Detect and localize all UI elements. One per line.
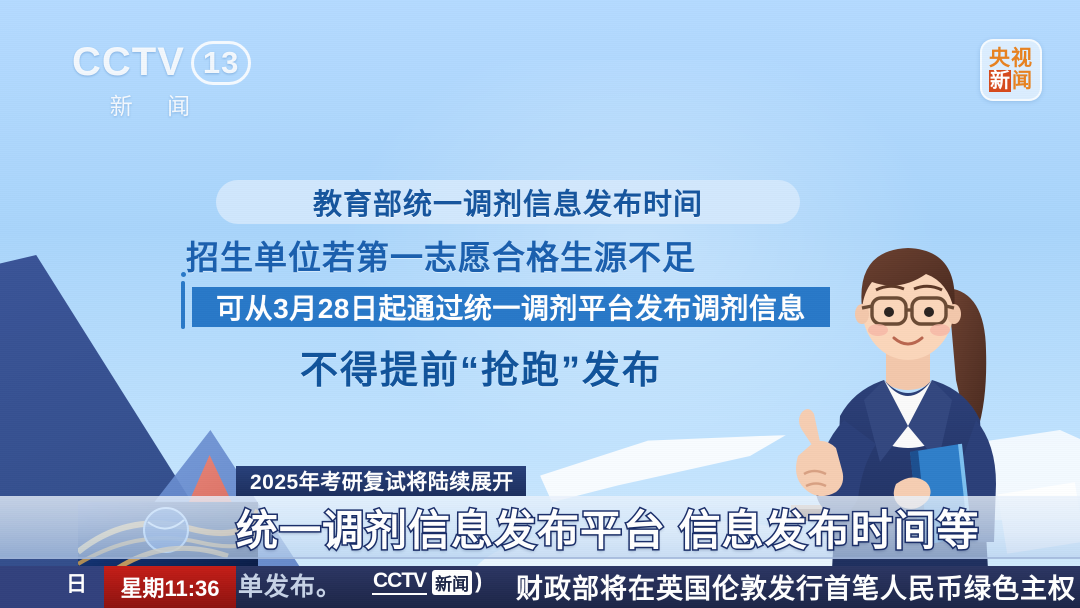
slide-line-2: 招生单位若第一志愿合格生源不足 [186, 231, 696, 279]
ticker-cctv-news-logo: CCTV 新闻 ) [372, 569, 482, 595]
lower-third-headline: 统一调剂信息发布平台 信息发布时间等 [236, 498, 980, 556]
cctv13-wordmark: CCTV 13 [72, 40, 242, 85]
bug-line-1: 央视 [989, 48, 1033, 70]
news-ticker: 日 星期11:36 单发布。 CCTV 新闻 ) 财政部将在英国伦敦发行首笔人民… [0, 566, 1080, 608]
slide-line-4: 不得提前“抢跑”发布 [300, 339, 662, 394]
ticker-headline: 财政部将在英国伦敦发行首笔人民币绿色主权 [516, 567, 1080, 606]
ticker-day-glyph: 日 [66, 568, 87, 598]
ticker-left-panel [0, 566, 104, 608]
bug-highlight-char: 新 [989, 70, 1011, 92]
ticker-cctv-text: CCTV [372, 569, 427, 595]
broadcast-screenshot: CCTV 13 新 闻 央视 新 闻 教育部统一调剂信息发布时间 招生单位若第一… [0, 0, 1080, 608]
accent-dot [181, 272, 186, 277]
accent-bar [181, 281, 185, 329]
cctv13-subtitle: 新 闻 [72, 87, 242, 121]
channel-number: 13 [191, 41, 251, 85]
cctv13-watermark: CCTV 13 新 闻 [72, 40, 242, 120]
ticker-news-badge: 新闻 [432, 570, 472, 595]
cctv-news-bug: 央视 新 闻 [980, 39, 1042, 101]
slide-highlight-text: 可从3月28日起通过统一调剂平台发布调剂信息 [192, 287, 830, 327]
lower-third: 2025年考研复试将陆续展开 统一调剂信息发布平台 信息发布时间等 [0, 466, 1080, 566]
slide-title: 教育部统一调剂信息发布时间 [216, 180, 800, 224]
ticker-logo-paren: ) [475, 570, 482, 594]
lower-third-kicker: 2025年考研复试将陆续展开 [236, 466, 526, 496]
bug-plain-char: 闻 [1011, 70, 1033, 92]
ticker-previous-fragment: 单发布。 [238, 567, 342, 603]
ticker-clock: 星期11:36 [104, 566, 236, 608]
bug-line-2: 新 闻 [989, 70, 1033, 92]
cctv-text: CCTV [72, 40, 185, 85]
